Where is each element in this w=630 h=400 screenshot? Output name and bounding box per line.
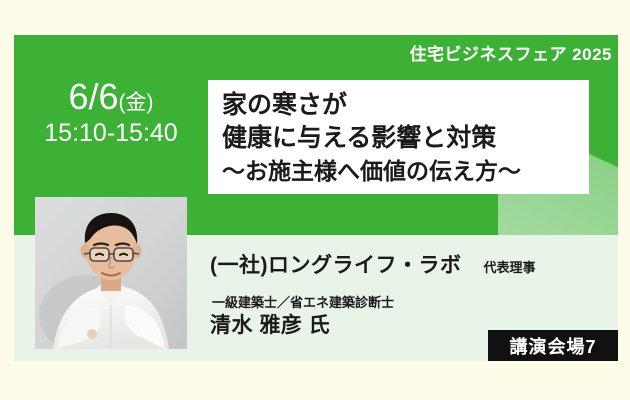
seminar-title-line-1: 家の寒さが [222,89,589,122]
session-time: 15:10-15:40 [14,118,208,149]
session-weekday: (金) [119,91,154,114]
fair-title: 住宅ビジネスフェア 2025 [409,40,612,65]
seminar-title-box: 家の寒さが 健康に与える影響と対策 ～お施主様へ価値の伝え方～ [208,80,589,194]
seminar-announcement-card: 住宅ビジネスフェア 2025 6/6(金) 15:10-15:40 [0,0,630,400]
speaker-photo [35,197,187,349]
session-date-value: 6/6 [68,76,118,117]
speaker-organization: (一社)ロングライフ・ラボ [210,249,462,279]
venue-badge: 講演会場7 [488,330,618,361]
speaker-organization-row: (一社)ロングライフ・ラボ 代表理事 [210,249,536,279]
speaker-portrait-illustration [35,197,187,349]
schedule-block: 6/6(金) 15:10-15:40 [14,78,208,149]
seminar-title-line-3: ～お施主様へ価値の伝え方～ [222,156,589,187]
session-date: 6/6(金) [14,78,208,116]
seminar-title-line-2: 健康に与える影響と対策 [222,122,589,155]
speaker-role: 代表理事 [484,257,536,276]
speaker-name: 清水 雅彦 氏 [210,309,330,339]
